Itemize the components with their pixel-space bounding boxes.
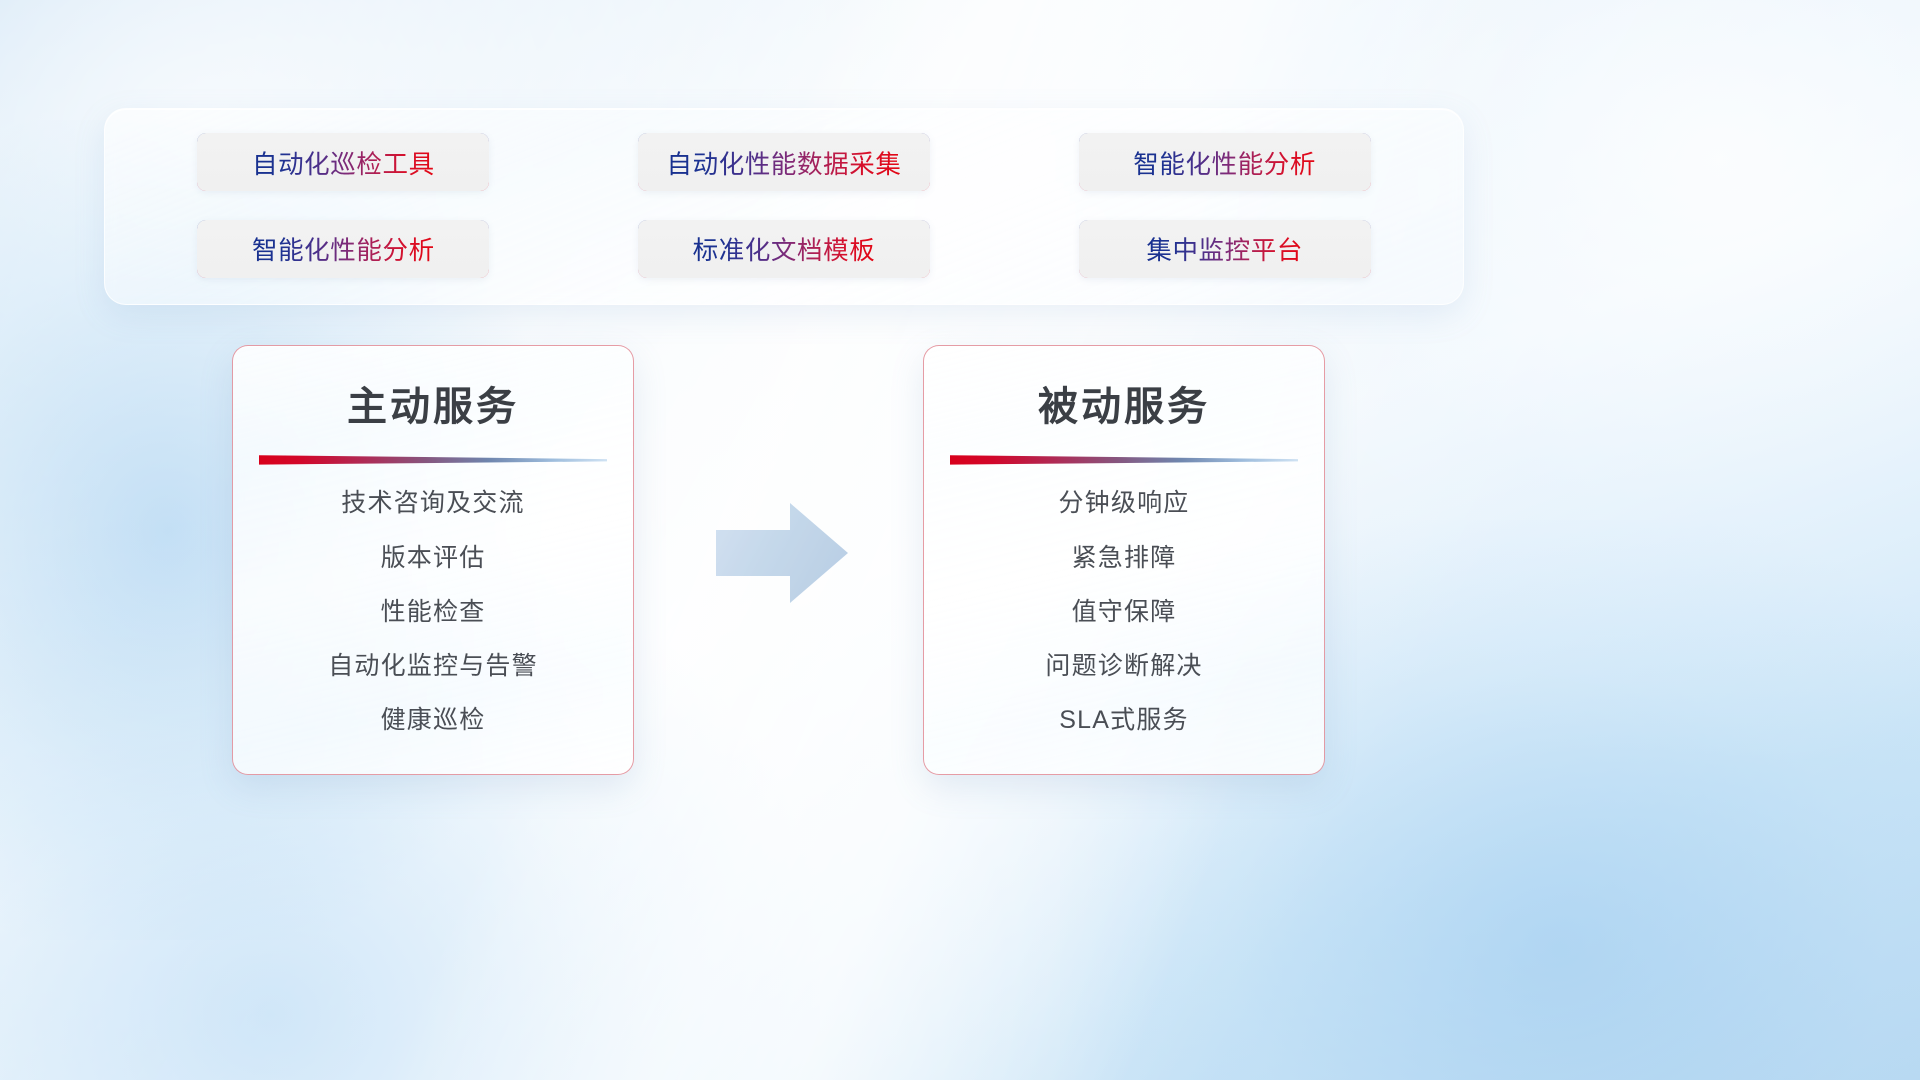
list-item: 自动化监控与告警 — [328, 651, 538, 682]
capability-pill-automated-inspection-tool[interactable]: 自动化巡检工具 — [197, 133, 489, 191]
capabilities-panel: 自动化巡检工具 自动化性能数据采集 智能化性能分析 智能化性能分析 标准化文档模… — [104, 108, 1464, 305]
list-item: 值守保障 — [1072, 597, 1177, 628]
card-divider-wedge — [950, 454, 1298, 465]
card-divider-wedge — [259, 454, 607, 465]
list-item: 健康巡检 — [381, 705, 486, 736]
capability-pill-label: 自动化巡检工具 — [252, 144, 435, 181]
capability-pill-centralized-monitoring-platform[interactable]: 集中监控平台 — [1079, 220, 1371, 278]
capability-pill-standardized-document-template[interactable]: 标准化文档模板 — [638, 220, 930, 278]
capability-pill-label: 自动化性能数据采集 — [667, 144, 902, 181]
capability-pill-automated-performance-data-collection[interactable]: 自动化性能数据采集 — [638, 133, 930, 191]
service-card-title: 被动服务 — [1038, 384, 1210, 430]
right-arrow-icon — [712, 497, 852, 609]
service-card-active[interactable]: 主动服务 技术咨询及交流 版本评估 — [232, 345, 634, 775]
list-item: SLA式服务 — [1059, 705, 1188, 736]
list-item: 技术咨询及交流 — [341, 488, 524, 519]
capability-pill-label: 集中监控平台 — [1146, 230, 1303, 267]
service-card-item-list: 技术咨询及交流 版本评估 性能检查 自动化监控与告警 健康巡检 — [259, 471, 607, 752]
service-card-title: 主动服务 — [347, 384, 519, 430]
list-item: 紧急排障 — [1072, 543, 1177, 574]
service-card-item-list: 分钟级响应 紧急排障 值守保障 问题诊断解决 SLA式服务 — [950, 471, 1298, 752]
list-item: 版本评估 — [381, 543, 486, 574]
list-item: 分钟级响应 — [1058, 488, 1189, 519]
capability-pill-intelligent-performance-analysis-a[interactable]: 智能化性能分析 — [1079, 133, 1371, 191]
service-card-passive[interactable]: 被动服务 分钟级响应 紧急排障 — [923, 345, 1325, 775]
capability-pill-label: 智能化性能分析 — [1133, 144, 1316, 181]
capability-pill-label: 智能化性能分析 — [252, 230, 435, 267]
capability-pill-label: 标准化文档模板 — [693, 230, 876, 267]
diagram-stage: 自动化巡检工具 自动化性能数据采集 智能化性能分析 智能化性能分析 标准化文档模… — [0, 0, 1920, 1080]
list-item: 性能检查 — [381, 597, 486, 628]
capability-pill-intelligent-performance-analysis-b[interactable]: 智能化性能分析 — [197, 220, 489, 278]
list-item: 问题诊断解决 — [1045, 651, 1202, 682]
